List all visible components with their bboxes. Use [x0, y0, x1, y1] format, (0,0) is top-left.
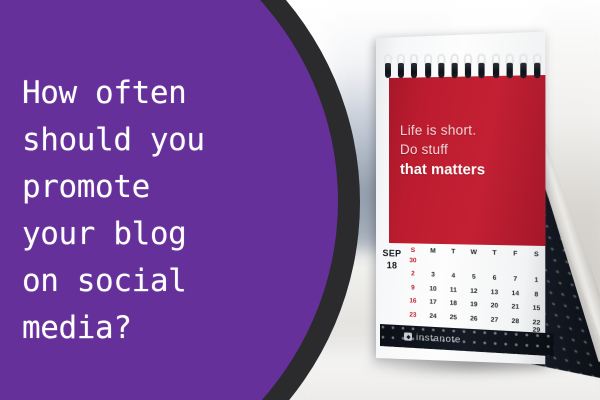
calendar-day-23: 23 — [403, 309, 423, 323]
square-logo-icon — [404, 332, 412, 341]
year-number: 18 — [382, 259, 402, 272]
calendar-day-13: 13 — [484, 286, 505, 300]
calendar-day-5: 5 — [463, 271, 484, 285]
blog-promo-banner: Life is short. Do stuff that matters SEP… — [0, 0, 600, 400]
spiral-ring — [384, 54, 392, 80]
calendar-day-21: 21 — [505, 301, 526, 315]
calendar-day-9: 9 — [403, 282, 423, 296]
spiral-binding — [384, 53, 549, 84]
spiral-ring — [424, 54, 432, 80]
quote-line-2: Do stuff — [400, 141, 533, 160]
calendar-day-3: 3 — [423, 269, 443, 283]
calendar-day-22: 22 — [526, 316, 547, 330]
calendar-day-2: 2 — [403, 268, 423, 282]
calendar-day-empty — [463, 258, 484, 272]
calendar-month-grid: SEP 18 SMTWTFS 30 2345671910111213148161… — [382, 246, 547, 337]
spiral-ring — [505, 54, 513, 81]
calendar-day-18: 18 — [443, 297, 464, 311]
headline-line-1: How often — [22, 70, 322, 117]
calendar-day-14: 14 — [505, 287, 526, 301]
calendar-day-1: 1 — [526, 275, 547, 289]
calendar-day-empty — [423, 256, 443, 270]
spiral-ring — [519, 53, 527, 80]
headline-line-5: on social — [22, 258, 322, 305]
weekday-6: S — [526, 251, 547, 259]
quote-line-1: Life is short. — [400, 121, 533, 141]
calendar-day-27: 27 — [484, 314, 505, 328]
weekday-4: T — [484, 249, 505, 257]
headline-title: How oftenshould youpromoteyour blogon so… — [22, 70, 322, 352]
calendar-day-empty — [526, 261, 547, 275]
calendar-day-17: 17 — [423, 296, 443, 310]
spiral-ring — [491, 54, 499, 81]
calendar-day-empty — [505, 260, 526, 274]
calendar-day-7: 7 — [505, 273, 526, 287]
calendar-day-12: 12 — [463, 285, 484, 299]
weekday-0: S — [403, 247, 423, 255]
desk-calendar: Life is short. Do stuff that matters SEP… — [370, 24, 570, 354]
calendar-day-8: 8 — [526, 288, 547, 302]
weekday-1: M — [423, 247, 443, 255]
weekday-2: T — [443, 248, 463, 256]
weekday-5: F — [505, 250, 526, 258]
calendar-day-4: 4 — [443, 270, 464, 284]
month-name: SEP — [382, 247, 402, 260]
spiral-ring — [478, 54, 486, 81]
calendar-quote: Life is short. Do stuff that matters — [400, 121, 533, 181]
headline-line-3: promote — [22, 164, 322, 211]
calendar-day-10: 10 — [423, 283, 443, 297]
calendar-day-26: 26 — [463, 312, 484, 326]
calendar-day-6: 6 — [484, 272, 505, 286]
calendar-month-label: SEP 18 — [382, 247, 402, 272]
spiral-ring — [451, 54, 459, 80]
calendar-day-15: 15 — [526, 302, 547, 316]
spiral-ring — [437, 54, 445, 80]
calendar-day-28: 28 — [505, 315, 526, 329]
calendar-day-empty — [443, 257, 464, 271]
spiral-ring — [464, 54, 472, 81]
calendar-day-empty — [484, 259, 505, 273]
brand-name: instanote — [416, 331, 461, 345]
weekday-3: W — [464, 249, 485, 257]
calendar-day-16: 16 — [403, 295, 423, 309]
spiral-ring — [533, 53, 542, 80]
calendar-day-20: 20 — [484, 300, 505, 314]
headline-line-6: media? — [22, 305, 322, 352]
calendar-day-25: 25 — [443, 311, 464, 325]
spiral-ring — [410, 54, 418, 80]
headline-line-4: your blog — [22, 211, 322, 258]
calendar-day-24: 24 — [423, 310, 443, 324]
spiral-ring — [397, 54, 405, 80]
calendar-day-19: 19 — [463, 299, 484, 313]
calendar-day-11: 11 — [443, 284, 464, 298]
headline-line-2: should you — [22, 117, 322, 164]
quote-line-3: that matters — [400, 160, 533, 181]
calendar-day-30: 30 — [403, 255, 423, 268]
